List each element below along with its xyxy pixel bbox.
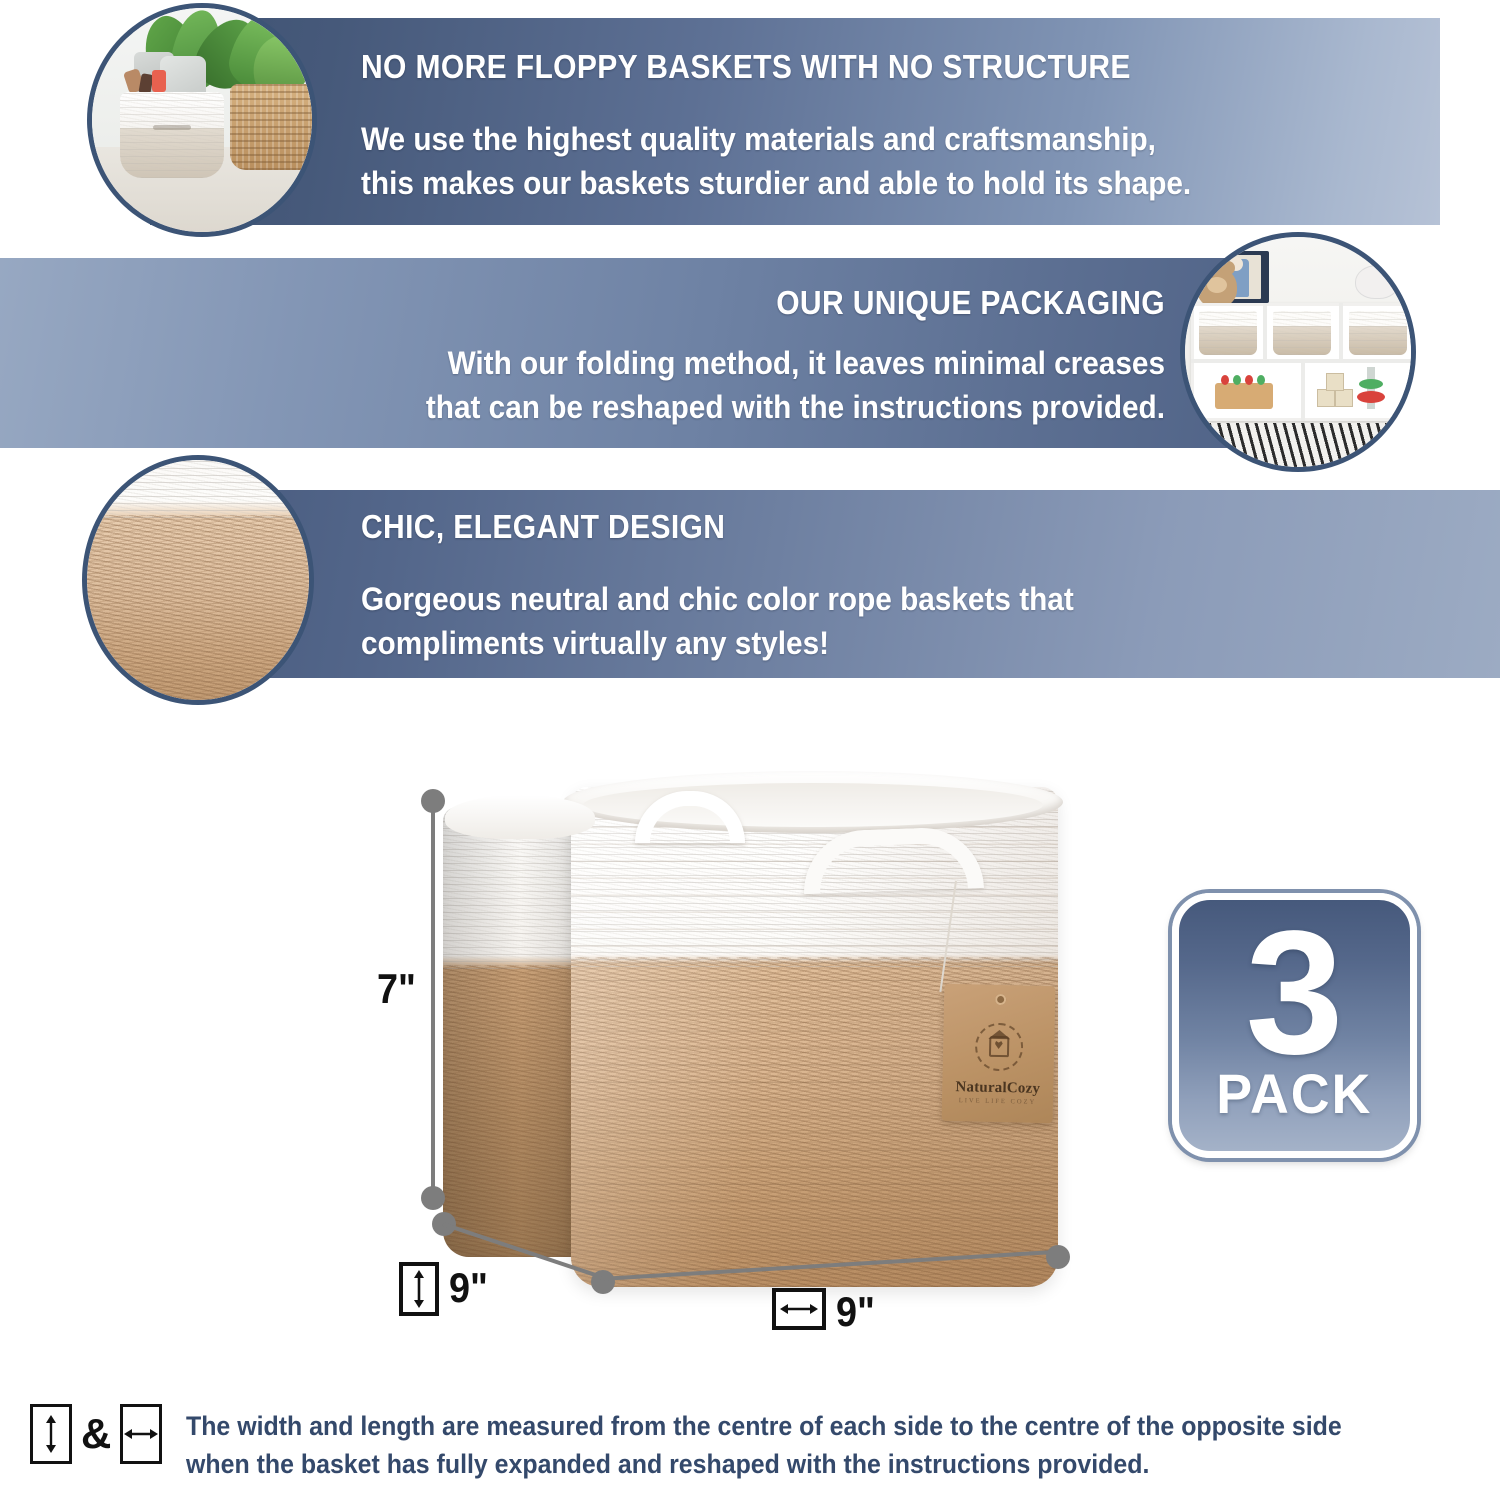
dim-dot-width-end (1046, 1245, 1070, 1269)
vertical-arrow-icon (410, 1270, 428, 1308)
width-icon-box (772, 1288, 826, 1330)
infographic-canvas: NO MORE FLOPPY BASKETS WITH NO STRUCTURE… (0, 0, 1500, 1486)
dim-label-depth: 9" (449, 1264, 488, 1312)
horizontal-arrow-icon (124, 1426, 158, 1442)
pack-count-badge: 3 PACK (1172, 893, 1417, 1158)
feature-body-line1-packaging: With our folding method, it leaves minim… (309, 342, 1165, 385)
dim-dot-height-bottom (421, 1186, 445, 1210)
pack-count-label: PACK (1216, 1066, 1372, 1122)
hang-tag-brand: NaturalCozy (942, 1079, 1053, 1098)
footnote-horizontal-icon-box (120, 1404, 162, 1464)
hang-tag: NaturalCozy LIVE LIFE COZY (942, 984, 1056, 1123)
footnote-text: The width and length are measured from t… (186, 1408, 1342, 1483)
footnote-icons: & (30, 1404, 162, 1464)
horizontal-arrow-icon (780, 1300, 818, 1318)
feature-body-line1-structure: We use the highest quality materials and… (361, 118, 1347, 161)
feature-heading-packaging: OUR UNIQUE PACKAGING (328, 286, 1165, 320)
dim-label-height: 7" (377, 965, 416, 1013)
feature-photo-design (82, 455, 314, 705)
footnote-vertical-icon-box (30, 1404, 72, 1464)
feature-photo-structure (87, 3, 317, 237)
footnote-separator: & (81, 1413, 111, 1455)
depth-icon-box (399, 1262, 439, 1316)
feature-body-line2-packaging: that can be reshaped with the instructio… (309, 386, 1165, 429)
footnote-line-2: when the basket has fully expanded and r… (186, 1446, 1342, 1484)
product-basket-image: NaturalCozy LIVE LIFE COZY (443, 785, 1058, 1305)
feature-photo-packaging (1180, 232, 1416, 472)
pack-count-number: 3 (1246, 923, 1344, 1064)
dim-dot-depth-end (591, 1270, 615, 1294)
feature-heading-structure: NO MORE FLOPPY BASKETS WITH NO STRUCTURE (361, 50, 1271, 84)
footnote-line-1: The width and length are measured from t… (186, 1408, 1342, 1446)
dim-line-height (431, 798, 435, 1196)
feature-heading-design: CHIC, ELEGANT DESIGN (361, 510, 1253, 544)
vertical-arrow-icon (43, 1415, 59, 1453)
dim-label-width: 9" (836, 1288, 875, 1336)
feature-body-line1-design: Gorgeous neutral and chic color rope bas… (361, 578, 1291, 621)
feature-body-line2-structure: this makes our baskets sturdier and able… (361, 162, 1347, 205)
feature-body-line2-design: compliments virtually any styles! (361, 622, 1291, 665)
